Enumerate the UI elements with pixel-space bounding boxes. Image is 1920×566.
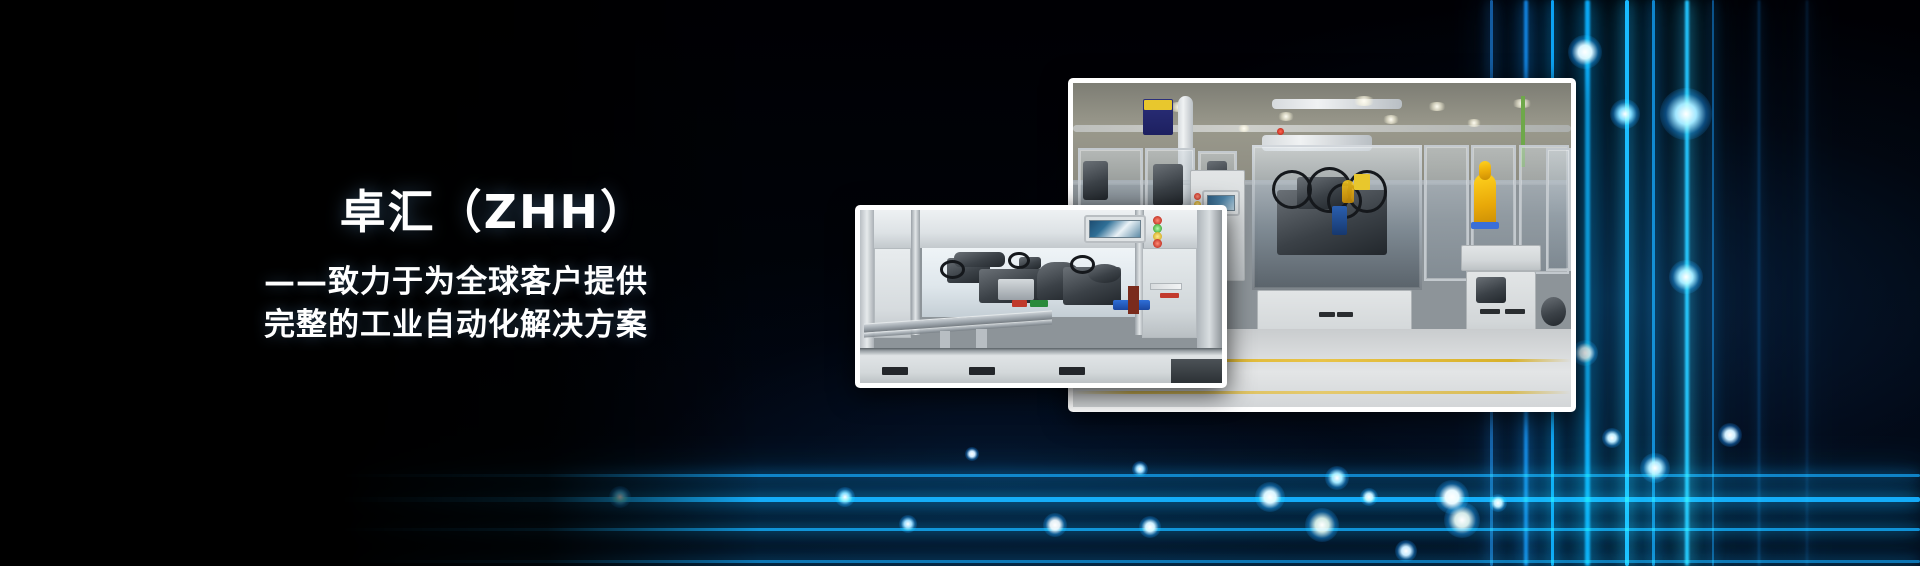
vertical-light-line <box>1806 0 1808 566</box>
vertical-light-line <box>1585 0 1590 566</box>
glow-node <box>1305 508 1339 542</box>
glow-node <box>965 447 979 461</box>
headline-block: 卓汇（ZHH） ——致力于为全球客户提供 完整的工业自动化解决方案 <box>0 186 810 346</box>
hero-banner: 卓汇（ZHH） ——致力于为全球客户提供 完整的工业自动化解决方案 <box>0 0 1920 566</box>
page-title: 卓汇（ZHH） <box>0 186 810 239</box>
vertical-light-line <box>1712 0 1714 566</box>
glow-node <box>1043 513 1067 537</box>
vertical-light-line <box>1685 0 1689 566</box>
subtitle-block: ——致力于为全球客户提供 完整的工业自动化解决方案 <box>0 261 810 347</box>
glow-node <box>1602 428 1622 448</box>
vertical-light-line <box>1625 0 1629 566</box>
glow-node <box>1640 453 1670 483</box>
glow-node <box>1444 502 1480 538</box>
vertical-light-line <box>1652 0 1655 566</box>
vertical-light-line <box>1758 0 1760 566</box>
subtitle-line-2: 完整的工业自动化解决方案 <box>0 304 648 347</box>
photo-assembly-machine-front-image <box>860 210 1222 383</box>
glow-node <box>1325 466 1349 490</box>
subtitle-line-1: ——致力于为全球客户提供 <box>0 261 648 304</box>
photo-assembly-machine-front <box>855 205 1227 388</box>
glow-node <box>1139 516 1161 538</box>
glow-node <box>1395 540 1417 562</box>
glow-node <box>1718 423 1742 447</box>
